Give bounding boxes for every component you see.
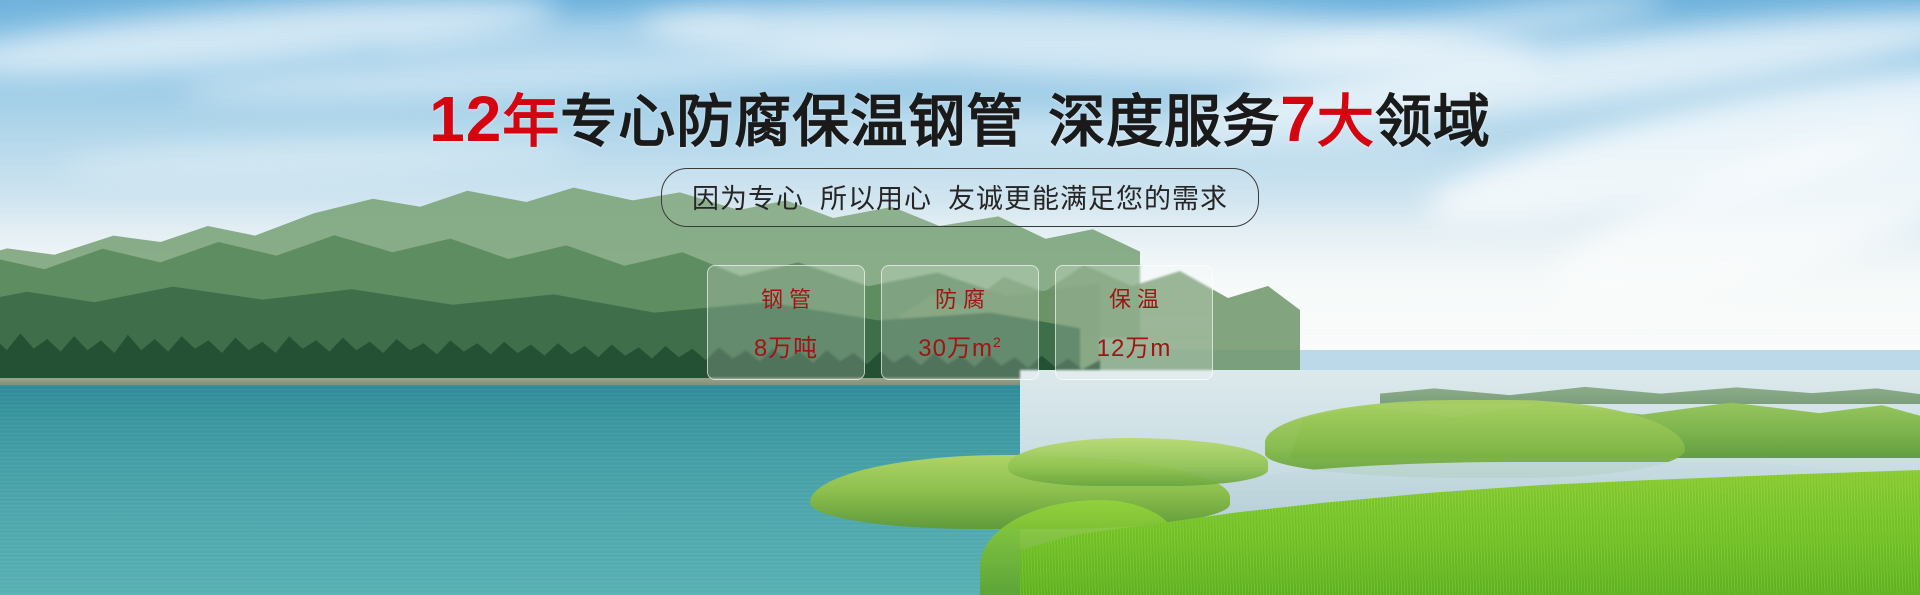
headline-main-text: 专心防腐保温钢管 — [560, 90, 1024, 154]
stat-card-value-superscript: 2 — [993, 334, 1002, 350]
subtitle-part-2: 所以用心 — [820, 184, 932, 214]
headline-tail-text: 领域 — [1375, 90, 1491, 154]
promo-banner: 12年专心防腐保温钢管深度服务7大领域 因为专心所以用心友诚更能满足您的需求 钢… — [0, 0, 1920, 595]
stat-card-value: 30万m2 — [918, 328, 1001, 363]
stat-card-label: 保温 — [1103, 282, 1165, 314]
stat-card-label: 钢管 — [755, 282, 817, 314]
stat-card-anticorrosion: 防腐 30万m2 — [881, 265, 1039, 380]
headline-years-unit: 年 — [502, 90, 560, 154]
stat-card-value-text: 30万m — [918, 335, 993, 362]
stat-card-insulation: 保温 12万m — [1055, 265, 1213, 380]
stat-card-value: 12万m — [1097, 328, 1172, 363]
headline-fields-unit: 大 — [1317, 90, 1375, 154]
headline-fields-number: 7 — [1280, 83, 1317, 155]
stat-card-steel-pipe: 钢管 8万吨 — [707, 265, 865, 380]
stat-card-label: 防腐 — [929, 282, 991, 314]
banner-subtitle-wrapper: 因为专心所以用心友诚更能满足您的需求 — [0, 168, 1920, 227]
headline-second-text: 深度服务 — [1048, 90, 1280, 154]
headline-years-number: 12 — [429, 83, 502, 155]
stat-card-value: 8万吨 — [754, 328, 818, 363]
banner-headline: 12年专心防腐保温钢管深度服务7大领域 — [0, 86, 1920, 153]
stat-card-value-text: 12万m — [1097, 335, 1172, 362]
stat-card-value-text: 8万吨 — [754, 335, 818, 362]
banner-subtitle-pill: 因为专心所以用心友诚更能满足您的需求 — [661, 168, 1259, 227]
banner-content: 12年专心防腐保温钢管深度服务7大领域 因为专心所以用心友诚更能满足您的需求 钢… — [0, 0, 1920, 595]
stat-card-group: 钢管 8万吨 防腐 30万m2 保温 12万m — [0, 265, 1920, 380]
subtitle-part-1: 因为专心 — [692, 184, 804, 214]
subtitle-part-3: 友诚更能满足您的需求 — [948, 184, 1228, 214]
